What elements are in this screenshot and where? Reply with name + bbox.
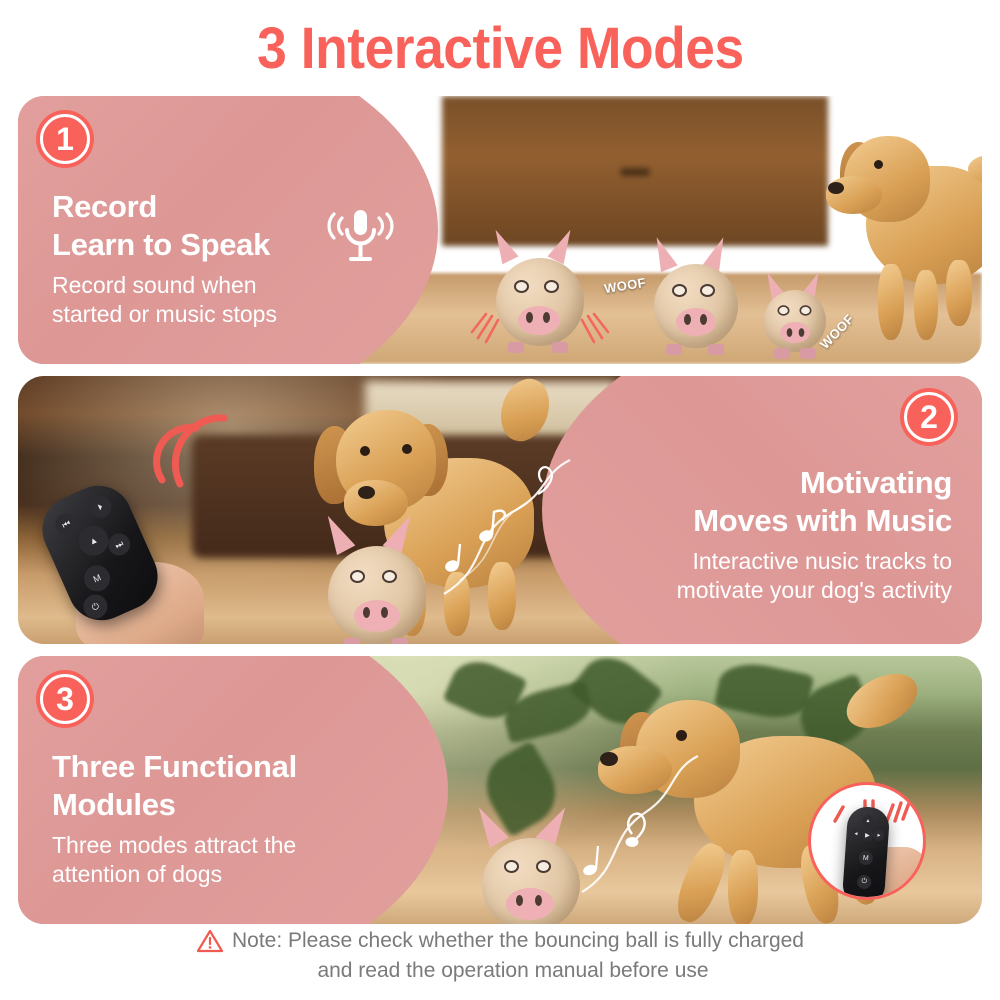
remote-prev-button[interactable]: ◂ — [850, 828, 862, 840]
music-trail-icon — [430, 448, 580, 608]
panel-headline-line2: Moves with Music — [677, 502, 952, 540]
panel-number-label: 2 — [920, 401, 938, 433]
remote-mode-button[interactable]: M — [858, 851, 873, 866]
note-text-line2: and read the operation manual before use — [317, 957, 708, 984]
remote-next-button[interactable]: ⏵ — [86, 492, 115, 521]
motion-lines-icon — [574, 308, 614, 348]
footer-note: Note: Please check whether the bouncing … — [0, 927, 1000, 984]
panel-record-learn-to-speak: WOOF WOOF 1 Record Learn to Speak Record… — [18, 96, 982, 364]
panel-copy: Motivating Moves with Music Interactive … — [677, 464, 952, 605]
dog-illustration — [818, 114, 982, 344]
panel-number-badge: 2 — [900, 388, 958, 446]
panel-headline-line1: Record — [52, 188, 277, 226]
signal-waves-icon — [144, 408, 240, 492]
remote-prev-button[interactable]: ⏮ — [52, 510, 81, 539]
title-bar: 3 Interactive Modes — [0, 0, 1000, 96]
remote-center-button[interactable]: ▶ — [861, 829, 874, 842]
warning-triangle-icon — [196, 928, 224, 954]
panel-number-label: 1 — [56, 123, 74, 155]
panel-list: WOOF WOOF 1 Record Learn to Speak Record… — [0, 96, 1000, 924]
remote-control-inset: ▴ ◂ ▶ ▸ M ⏻ — [842, 806, 891, 900]
note-line-second: and read the operation manual before use — [291, 957, 708, 984]
panel-number-badge: 1 — [36, 110, 94, 168]
remote-inset-circle: ▴ ◂ ▶ ▸ M ⏻ — [808, 782, 926, 900]
panel-headline-line2: Learn to Speak — [52, 226, 277, 264]
pig-ball-toy — [646, 236, 746, 358]
panel-number-badge: 3 — [36, 670, 94, 728]
panel-subline-line2: started or music stops — [52, 300, 277, 329]
panel-number-label: 3 — [56, 683, 74, 715]
remote-play-button[interactable]: ▴ — [862, 815, 874, 827]
panel-headline-line1: Motivating — [677, 464, 952, 502]
remote-forward-button[interactable]: ⏭ — [105, 530, 134, 559]
panel-subline-line2: motivate your dog's activity — [677, 576, 952, 605]
music-trail-icon — [574, 742, 714, 902]
remote-next-button[interactable]: ▸ — [873, 829, 885, 841]
panel-subline-line2: attention of dogs — [52, 860, 297, 889]
panel-copy: Three Functional Modules Three modes att… — [52, 748, 297, 889]
panel-subline-line1: Interactive nusic tracks to — [677, 547, 952, 576]
panel-three-functional-modules: ▴ ◂ ▶ ▸ M ⏻ 3 — [18, 656, 982, 924]
panel-subline-line1: Record sound when — [52, 271, 277, 300]
pig-ball-toy — [318, 516, 436, 644]
panel-copy: Record Learn to Speak Record sound when … — [52, 188, 277, 329]
note-line-first: Note: Please check whether the bouncing … — [196, 927, 804, 954]
panel-motivating-moves-with-music: ⏮ ⏵ ▲ ⏭ M ⏻ 2 — [18, 376, 982, 644]
note-text-line1: Note: Please check whether the bouncing … — [232, 927, 804, 954]
page-title: 3 Interactive Modes — [257, 15, 744, 82]
remote-power-button[interactable]: ⏻ — [857, 874, 872, 889]
panel-headline-line2: Modules — [52, 786, 297, 824]
panel-headline-line1: Three Functional — [52, 748, 297, 786]
remote-mode-button[interactable]: M — [80, 561, 114, 595]
motion-lines-icon — [466, 308, 506, 348]
panel-subline-line1: Three modes attract the — [52, 831, 297, 860]
microphone-icon — [322, 206, 398, 268]
cabinet-shape — [442, 96, 828, 246]
